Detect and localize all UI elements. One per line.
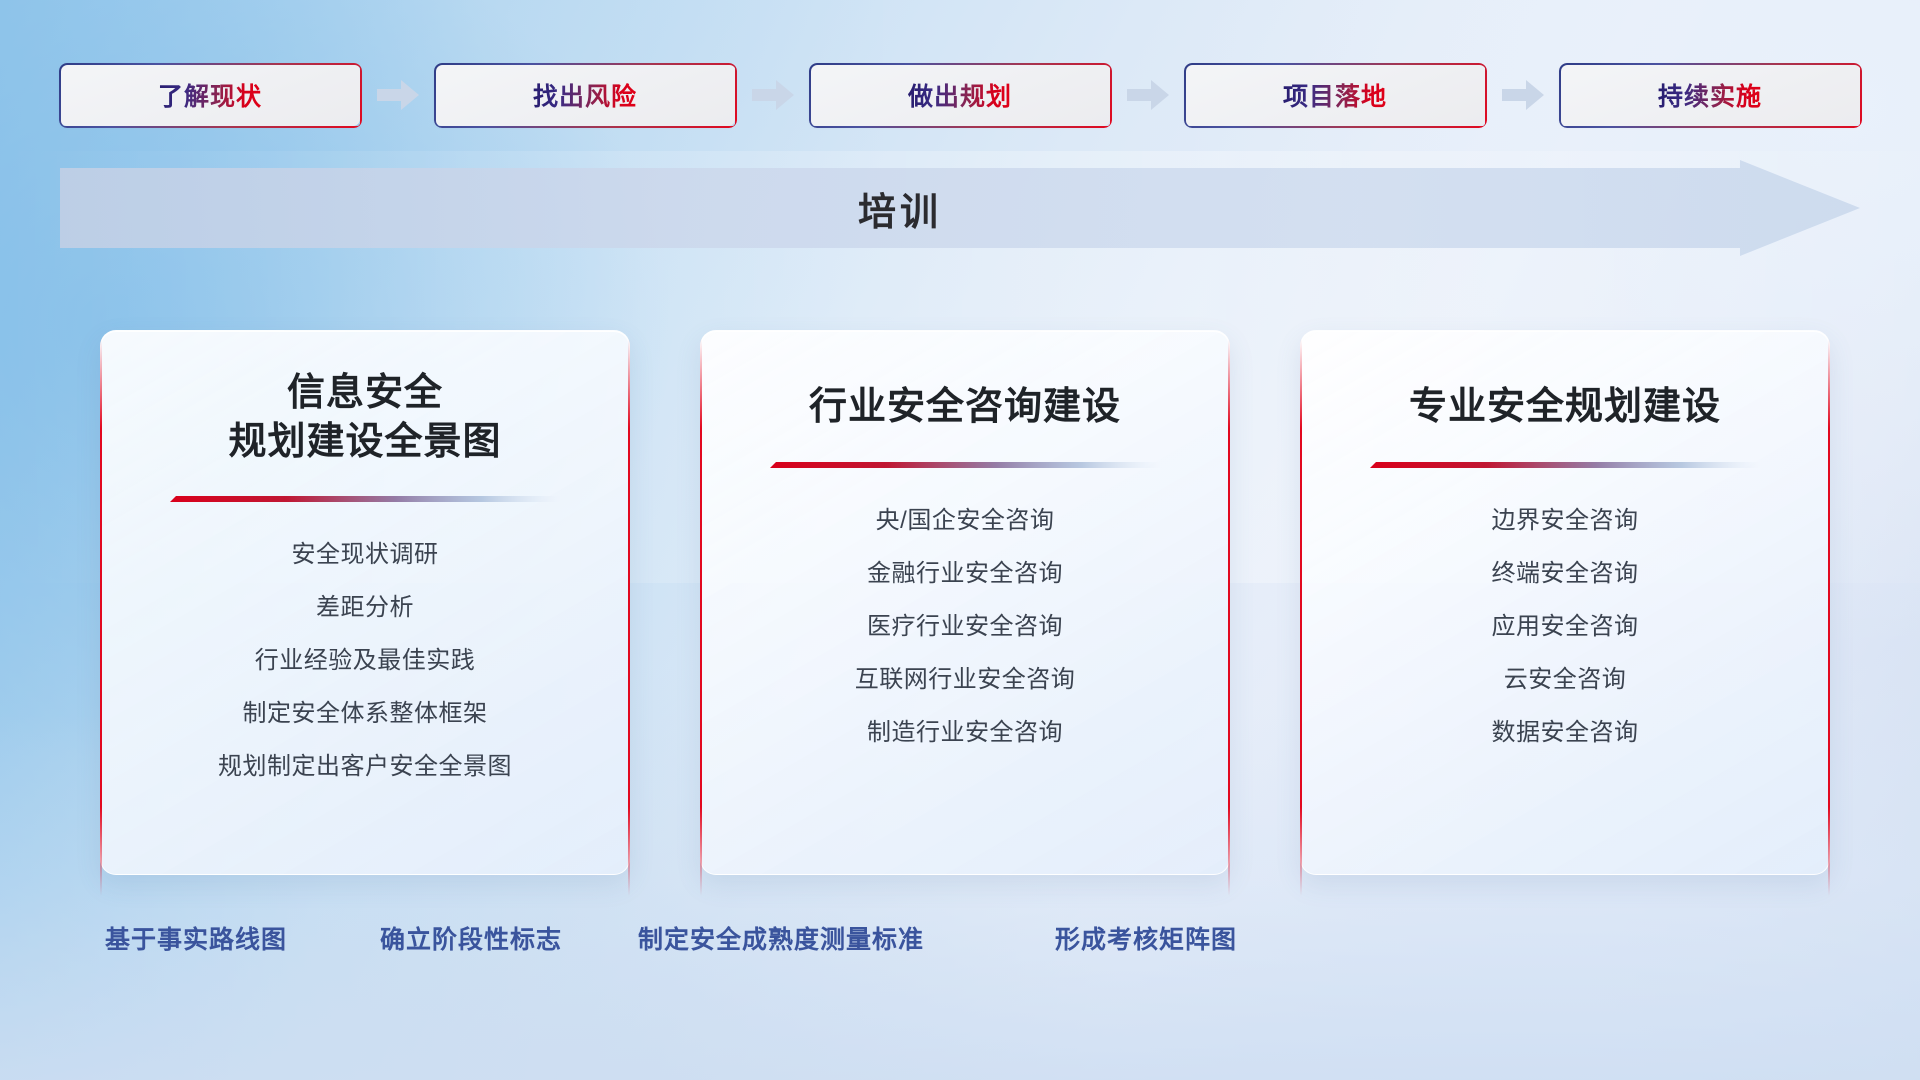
caption-4: 形成考核矩阵图 [1055, 920, 1237, 956]
step-arrow-icon-1 [377, 80, 419, 110]
step-box-4[interactable]: 项目落地 [1185, 64, 1485, 126]
caption-row: 基于事实路线图 确立阶段性标志 制定安全成熟度测量标准 形成考核矩阵图 [0, 920, 1920, 968]
card-list-2: 央/国企安全咨询 金融行业安全咨询 医疗行业安全咨询 互联网行业安全咨询 制造行… [855, 500, 1076, 747]
step-label-2: 找出风险 [533, 77, 637, 113]
card-title-1-line-2: 规划建设全景图 [228, 418, 501, 467]
caption-2: 确立阶段性标志 [380, 920, 562, 956]
step-box-5[interactable]: 持续实施 [1560, 64, 1860, 126]
list-item: 规划制定出客户安全全景图 [218, 746, 512, 781]
card-title-3: 专业安全规划建设 [1409, 383, 1721, 432]
card-title-1-line-1: 信息安全 [228, 369, 501, 418]
list-item: 边界安全咨询 [1492, 500, 1639, 535]
caption-3: 制定安全成熟度测量标准 [638, 920, 924, 956]
card-divider-2 [770, 460, 1160, 472]
list-item: 制造行业安全咨询 [867, 712, 1063, 747]
card-row: 信息安全 规划建设全景图 [100, 330, 1830, 875]
list-item: 医疗行业安全咨询 [867, 606, 1063, 641]
step-box-3[interactable]: 做出规划 [810, 64, 1110, 126]
list-item: 金融行业安全咨询 [867, 553, 1063, 588]
step-box-1[interactable]: 了解现状 [60, 64, 360, 126]
caption-1: 基于事实路线图 [105, 920, 287, 956]
step-arrow-icon-2 [752, 80, 794, 110]
step-label-3: 做出规划 [908, 77, 1012, 113]
card-industry-security-consulting[interactable]: 行业安全咨询建设 央/国 [700, 330, 1230, 875]
list-item: 终端安全咨询 [1492, 553, 1639, 588]
card-list-3: 边界安全咨询 终端安全咨询 应用安全咨询 云安全咨询 数据安全咨询 [1492, 500, 1639, 747]
step-label-5: 持续实施 [1658, 77, 1762, 113]
step-arrow-icon-3 [1127, 80, 1169, 110]
list-item: 差距分析 [316, 587, 414, 622]
card-divider-1 [170, 494, 560, 506]
list-item: 央/国企安全咨询 [876, 500, 1055, 535]
list-item: 应用安全咨询 [1492, 606, 1639, 641]
list-item: 行业经验及最佳实践 [255, 640, 476, 675]
list-item: 数据安全咨询 [1492, 712, 1639, 747]
card-professional-security-planning[interactable]: 专业安全规划建设 边界安 [1300, 330, 1830, 875]
list-item: 安全现状调研 [292, 534, 439, 569]
step-box-2[interactable]: 找出风险 [435, 64, 735, 126]
step-arrow-icon-4 [1502, 80, 1544, 110]
card-divider-3 [1370, 460, 1760, 472]
training-label: 培训 [60, 160, 1740, 256]
list-item: 互联网行业安全咨询 [855, 659, 1076, 694]
step-label-4: 项目落地 [1283, 77, 1387, 113]
card-title-2: 行业安全咨询建设 [809, 383, 1121, 432]
card-title-2-line-1: 行业安全咨询建设 [809, 383, 1121, 432]
process-step-row: 了解现状 找出风险 做出规划 项目落地 持续实施 [60, 64, 1860, 126]
step-label-1: 了解现状 [158, 77, 262, 113]
card-list-1: 安全现状调研 差距分析 行业经验及最佳实践 制定安全体系整体框架 规划制定出客户… [218, 534, 512, 781]
card-title-1: 信息安全 规划建设全景图 [228, 369, 501, 466]
training-banner: 培训 [60, 160, 1860, 256]
card-information-security-blueprint[interactable]: 信息安全 规划建设全景图 [100, 330, 630, 875]
list-item: 云安全咨询 [1504, 659, 1627, 694]
list-item: 制定安全体系整体框架 [243, 693, 488, 728]
card-title-3-line-1: 专业安全规划建设 [1409, 383, 1721, 432]
